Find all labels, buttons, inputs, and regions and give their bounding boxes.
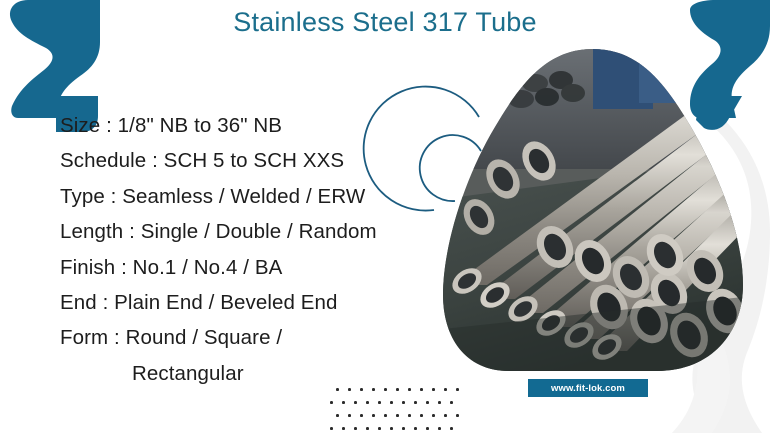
dot-grid-dot	[432, 388, 435, 391]
dot-grid-dot	[420, 388, 423, 391]
dot-grid-dot	[360, 414, 363, 417]
dot-grid-decoration	[330, 388, 470, 433]
product-photo	[443, 49, 743, 371]
dot-grid-dot	[372, 388, 375, 391]
dot-grid-dot	[354, 427, 357, 430]
specification-list: Size : 1/8" NB to 36" NB Schedule : SCH …	[60, 108, 460, 391]
spec-line-end: End : Plain End / Beveled End	[60, 285, 460, 320]
dot-grid-dot	[420, 414, 423, 417]
dot-grid-dot	[456, 388, 459, 391]
dot-grid-dot	[408, 388, 411, 391]
dot-grid-dot	[438, 427, 441, 430]
dot-grid-dot	[396, 414, 399, 417]
dot-grid-dot	[390, 401, 393, 404]
dot-grid-dot	[402, 427, 405, 430]
dot-grid-dot	[354, 401, 357, 404]
dot-grid-dot	[384, 414, 387, 417]
dot-grid-dot	[408, 414, 411, 417]
product-photo-mask	[443, 49, 743, 371]
dot-grid-dot	[336, 414, 339, 417]
dot-grid-dot	[450, 427, 453, 430]
dot-grid-dot	[444, 414, 447, 417]
dot-grid-dot	[342, 401, 345, 404]
dot-grid-dot	[414, 401, 417, 404]
dot-grid-dot	[426, 401, 429, 404]
dot-grid-dot	[330, 401, 333, 404]
dot-grid-dot	[348, 414, 351, 417]
dot-grid-dot	[450, 401, 453, 404]
dot-grid-dot	[414, 427, 417, 430]
spec-line-form: Form : Round / Square /	[60, 320, 460, 355]
steel-tubes-illustration	[443, 49, 743, 371]
website-badge[interactable]: www.fit-lok.com	[528, 379, 648, 397]
dot-grid-dot	[426, 427, 429, 430]
dot-grid-dot	[390, 427, 393, 430]
dot-grid-dot	[378, 401, 381, 404]
dot-grid-dot	[402, 401, 405, 404]
dot-grid-dot	[456, 414, 459, 417]
spec-line-size: Size : 1/8" NB to 36" NB	[60, 108, 460, 143]
dot-grid-dot	[366, 401, 369, 404]
dot-grid-dot	[372, 414, 375, 417]
dot-grid-dot	[336, 388, 339, 391]
spec-line-form-continued: Rectangular	[60, 356, 460, 391]
dot-grid-dot	[438, 401, 441, 404]
dot-grid-dot	[360, 388, 363, 391]
dot-grid-dot	[342, 427, 345, 430]
spec-line-type: Type : Seamless / Welded / ERW	[60, 179, 460, 214]
spec-line-length: Length : Single / Double / Random	[60, 214, 460, 249]
dot-grid-dot	[396, 388, 399, 391]
dot-grid-dot	[366, 427, 369, 430]
page-title: Stainless Steel 317 Tube	[0, 7, 770, 38]
spec-line-finish: Finish : No.1 / No.4 / BA	[60, 250, 460, 285]
spec-line-schedule: Schedule : SCH 5 to SCH XXS	[60, 143, 460, 178]
dot-grid-dot	[330, 427, 333, 430]
poster-canvas: Stainless Steel 317 Tube Size : 1/8" NB …	[0, 0, 770, 433]
dot-grid-dot	[384, 388, 387, 391]
dot-grid-dot	[348, 388, 351, 391]
dot-grid-dot	[432, 414, 435, 417]
dot-grid-dot	[378, 427, 381, 430]
dot-grid-dot	[444, 388, 447, 391]
